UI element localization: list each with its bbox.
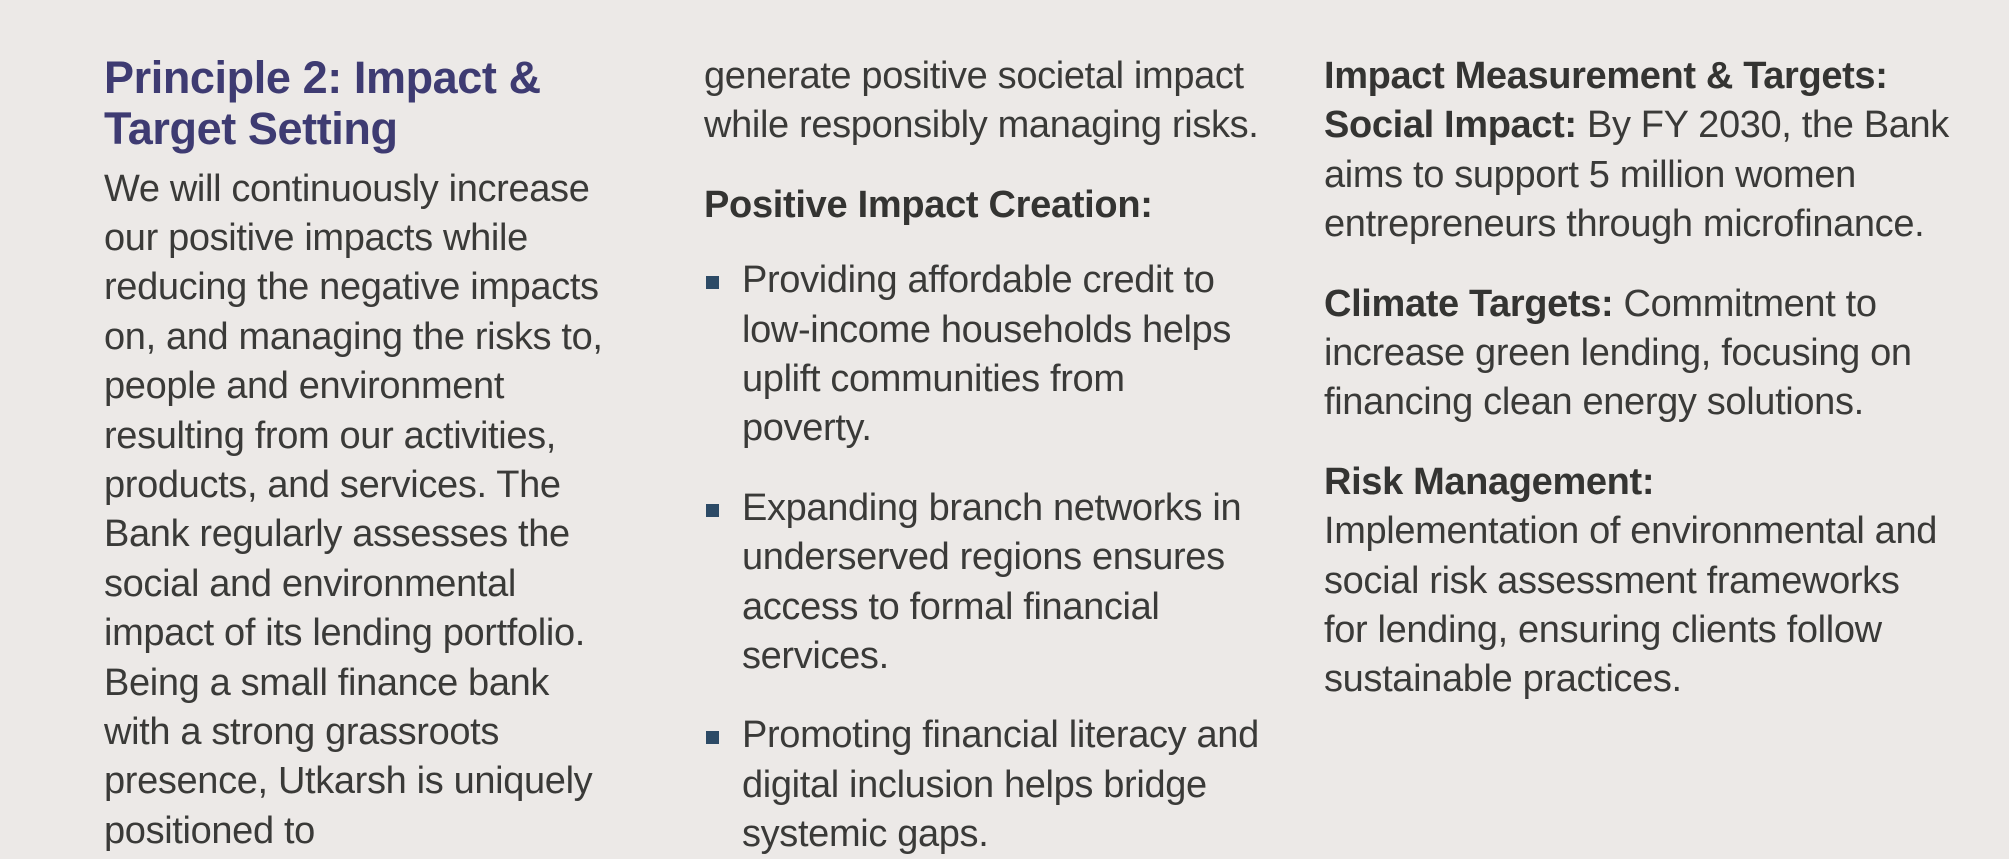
column-one: Principle 2: Impact & Target Setting We … [104,52,704,856]
climate-targets-label: Climate Targets: [1324,283,1613,325]
column-two: generate positive societal impact while … [704,52,1324,859]
list-item: Providing affordable credit to low-incom… [704,256,1264,454]
square-bullet-icon [706,731,719,744]
risk-management-block: Risk Management: Implementation of envir… [1324,458,1949,705]
list-item: Promoting financial literacy and digital… [704,711,1264,859]
positive-impact-creation-heading: Positive Impact Creation: [704,181,1264,230]
list-item-text: Providing affordable credit to low-incom… [742,259,1231,449]
risk-management-label: Risk Management: [1324,461,1654,503]
page-title: Principle 2: Impact & Target Setting [104,52,608,155]
intro-paragraph-continuation: generate positive societal impact while … [704,52,1264,151]
list-item: Expanding branch networks in underserved… [704,484,1264,682]
column-three: Impact Measurement & Targets: Social Imp… [1324,52,1949,705]
climate-targets-block: Climate Targets: Commitment to increase … [1324,280,1949,428]
social-impact-label: Social Impact: [1324,104,1577,146]
intro-paragraph: We will continuously increase our positi… [104,165,608,856]
square-bullet-icon [706,504,719,517]
square-bullet-icon [706,276,719,289]
risk-management-text: Implementation of environmental and soci… [1324,510,1937,700]
list-item-text: Promoting financial literacy and digital… [742,714,1259,855]
document-page: Principle 2: Impact & Target Setting We … [0,0,2009,804]
impact-measurement-heading: Impact Measurement & Targets: [1324,55,1888,97]
positive-impact-bullet-list: Providing affordable credit to low-incom… [704,256,1264,859]
list-item-text: Expanding branch networks in underserved… [742,487,1241,677]
impact-measurement-block: Impact Measurement & Targets: Social Imp… [1324,52,1949,250]
three-column-layout: Principle 2: Impact & Target Setting We … [0,52,2009,859]
